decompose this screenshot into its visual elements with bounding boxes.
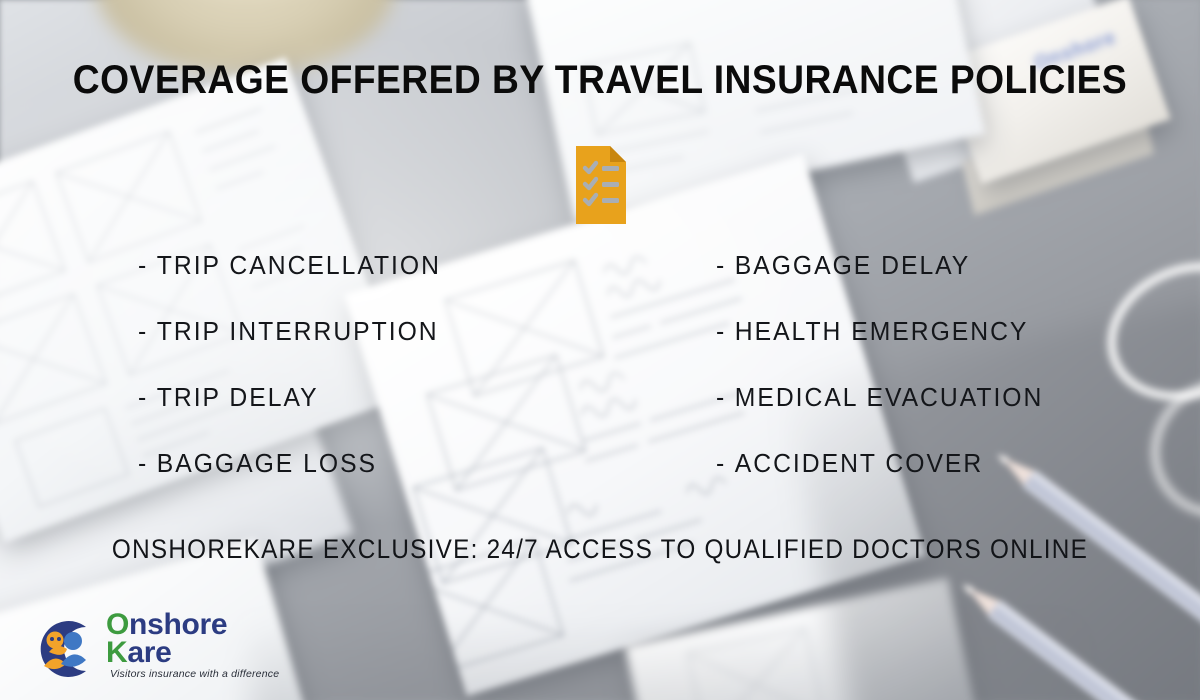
logo-line-one: Onshore	[106, 611, 227, 639]
benefit-label: TRIP DELAY	[157, 382, 319, 412]
benefit-label: TRIP CANCELLATION	[157, 250, 441, 280]
bullet-dash: -	[716, 438, 726, 488]
benefit-label: HEALTH EMERGENCY	[735, 316, 1029, 346]
logo-k: K	[106, 636, 127, 669]
checklist-document-icon	[576, 146, 626, 224]
list-item: -TRIP INTERRUPTION	[138, 306, 441, 372]
benefit-label: ACCIDENT COVER	[735, 448, 983, 478]
list-item: -BAGGAGE LOSS	[138, 438, 441, 504]
benefit-label: TRIP INTERRUPTION	[157, 316, 439, 346]
logo-kare-rest: are	[127, 636, 171, 669]
infographic-canvas: Onshore	[0, 0, 1200, 700]
infographic-content: COVERAGE OFFERED BY TRAVEL INSURANCE POL…	[0, 0, 1200, 700]
benefits-column-left: -TRIP CANCELLATION -TRIP INTERRUPTION -T…	[138, 240, 457, 504]
list-item: -MEDICAL EVACUATION	[716, 372, 1043, 438]
logo-wordmark: Onshore Kare	[106, 611, 227, 667]
benefit-label: MEDICAL EVACUATION	[735, 382, 1044, 412]
bullet-dash: -	[138, 372, 148, 422]
brand-logo: Onshore Kare Visitors insurance with a d…	[28, 612, 248, 690]
bullet-dash: -	[716, 372, 726, 422]
list-item: -BAGGAGE DELAY	[716, 240, 1043, 306]
list-item: -TRIP DELAY	[138, 372, 441, 438]
benefit-label: BAGGAGE LOSS	[157, 448, 377, 478]
list-item: -HEALTH EMERGENCY	[716, 306, 1043, 372]
benefits-list: -TRIP CANCELLATION -TRIP INTERRUPTION -T…	[0, 240, 1200, 500]
bullet-dash: -	[716, 306, 726, 356]
list-item: -ACCIDENT COVER	[716, 438, 1043, 504]
exclusive-tagline: ONSHOREKARE EXCLUSIVE: 24/7 ACCESS TO QU…	[60, 534, 1140, 565]
bullet-dash: -	[138, 438, 148, 488]
bullet-dash: -	[716, 240, 726, 290]
benefit-label: BAGGAGE DELAY	[735, 250, 971, 280]
onshorekare-logo-mark	[28, 614, 98, 684]
benefits-column-right: -BAGGAGE DELAY -HEALTH EMERGENCY -MEDICA…	[716, 240, 1061, 504]
bullet-dash: -	[138, 240, 148, 290]
page-title: COVERAGE OFFERED BY TRAVEL INSURANCE POL…	[42, 58, 1158, 103]
bullet-dash: -	[138, 306, 148, 356]
list-item: -TRIP CANCELLATION	[138, 240, 441, 306]
logo-slogan: Visitors insurance with a difference	[110, 668, 279, 680]
logo-line-two: Kare	[106, 639, 227, 667]
